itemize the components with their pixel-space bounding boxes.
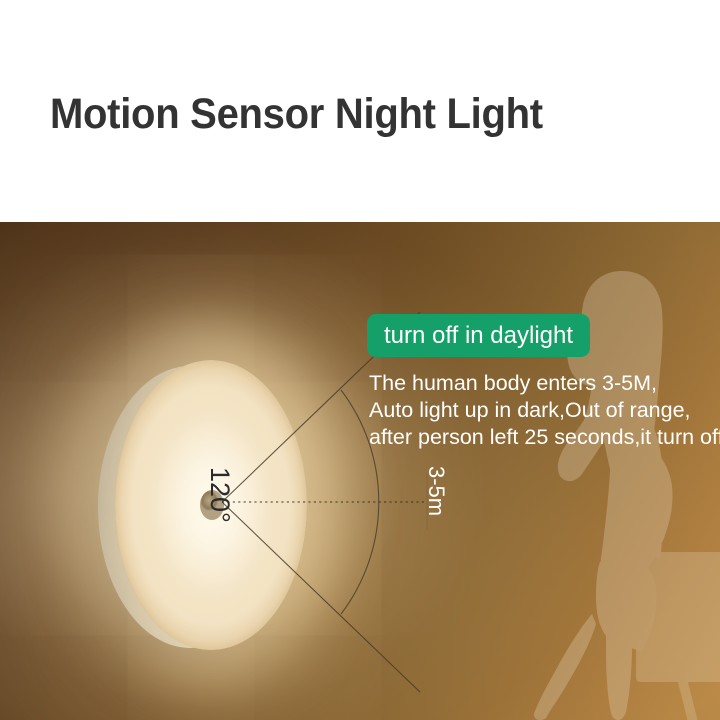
product-marketing-image: Motion Sensor Night Light xyxy=(0,0,720,720)
detection-range-label: 3-5m xyxy=(423,466,449,516)
daylight-badge: turn off in daylight xyxy=(367,314,590,357)
description-line-2: Auto light up in dark,Out of range, xyxy=(369,397,719,424)
product-photo-panel: 120° 3-5m turn off in daylight The human… xyxy=(0,222,720,720)
detection-angle-label: 120° xyxy=(204,467,235,523)
description-line-1: The human body enters 3-5M, xyxy=(369,370,719,397)
feature-description: The human body enters 3-5M, Auto light u… xyxy=(369,370,719,451)
header-banner: Motion Sensor Night Light xyxy=(0,0,720,222)
page-title: Motion Sensor Night Light xyxy=(50,90,543,139)
description-line-3: after person left 25 seconds,it turn off… xyxy=(369,424,719,451)
